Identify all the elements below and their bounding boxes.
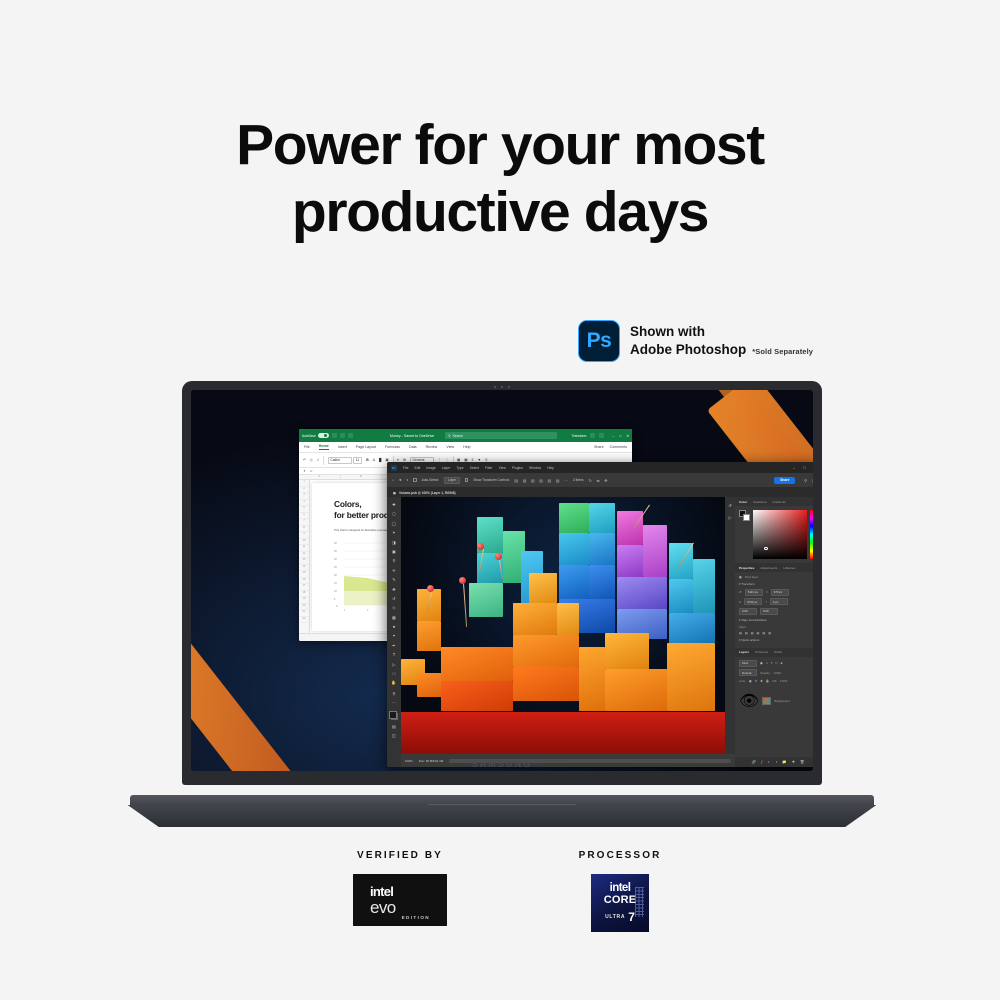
verified-by-caption: VERIFIED BY bbox=[290, 850, 510, 861]
lock-label: Lock: bbox=[739, 679, 746, 683]
tab-properties[interactable]: Properties bbox=[739, 566, 754, 570]
history-brush-tool-icon[interactable]: ↺ bbox=[392, 596, 396, 601]
shown-with-line2: Adobe Photoshop bbox=[630, 341, 746, 359]
filter-type-icon[interactable]: T bbox=[771, 661, 773, 665]
svg-text:15: 15 bbox=[334, 582, 337, 585]
svg-text:0: 0 bbox=[336, 605, 338, 608]
share-button[interactable]: Share bbox=[594, 445, 604, 449]
pixel-layer-icon: ▣ bbox=[739, 575, 742, 579]
headline-line-1: Power for your most bbox=[0, 112, 1000, 179]
gradient-tool-icon[interactable]: ▦ bbox=[392, 615, 396, 620]
history-panel-icon[interactable]: ↺ bbox=[728, 503, 731, 508]
height-label: H bbox=[739, 600, 741, 604]
auto-select-label: Auto-Select: bbox=[422, 478, 439, 482]
excel-title-bar: AutoSave Money - Saved to OneDrive ⚲ Sea… bbox=[299, 429, 632, 442]
processor-caption: PROCESSOR bbox=[510, 850, 730, 861]
ribbon-tab-view[interactable]: View bbox=[446, 445, 454, 449]
ribbon-tab-help[interactable]: Help bbox=[463, 445, 470, 449]
align-icons-group[interactable]: ▤ ▤ ▤ ▤ ▤ ▤ ⋯ bbox=[514, 478, 568, 483]
layer-list-item[interactable]: 👁 Background bbox=[735, 688, 813, 714]
hue-slider[interactable] bbox=[810, 510, 813, 559]
path-selection-tool-icon[interactable]: ▷ bbox=[392, 662, 395, 667]
excel-document-title[interactable]: Money - Saved to OneDrive bbox=[390, 434, 434, 438]
tab-thumbnail-icon: ▣ bbox=[393, 491, 396, 495]
menu-layer[interactable]: Layer bbox=[442, 466, 450, 470]
maximize-button[interactable]: □ bbox=[803, 465, 805, 470]
properties-panel-body[interactable]: ▣ Pixel layer ▾ Transform W 5113 px X 37… bbox=[735, 572, 813, 648]
align-middle-icon[interactable]: ▤ bbox=[547, 478, 551, 483]
crop-tool-icon[interactable]: ◨ bbox=[392, 540, 396, 545]
foreground-background-color-swatch[interactable] bbox=[391, 713, 398, 720]
font-name-select[interactable]: Calibri bbox=[328, 457, 352, 464]
photoshop-app-icon: Ps bbox=[391, 465, 397, 471]
excel-titlebar-right: Transform – □ ✕ bbox=[571, 433, 629, 438]
quick-mask-icon[interactable]: ▤ bbox=[392, 724, 396, 729]
tab-adjustments[interactable]: Adjustments bbox=[760, 566, 777, 570]
lock-row[interactable]: Lock: ▣ ✎ ✚ 🔒 Fill: 100% bbox=[739, 679, 813, 683]
svg-text:20: 20 bbox=[334, 574, 337, 577]
photoshop-workspace: ✚ ◻ ◯ ✦ ◨ ▣ ⚲ ✢ ✎ ☘ ↺ ◇ ▦ ● ⚭ bbox=[387, 497, 813, 767]
intel-evo-wordmark: intel evo bbox=[370, 885, 396, 916]
color-panel-tabs[interactable]: Color Swatches Gradients ⋯ bbox=[735, 497, 813, 506]
save-icon[interactable] bbox=[332, 433, 337, 438]
intel-wordmark: intel bbox=[370, 885, 396, 898]
ribbon-tab-home[interactable]: Home bbox=[319, 444, 329, 450]
opacity-label: Opacity: bbox=[760, 671, 771, 675]
transform-row-2[interactable]: H 3742 px Y 0 px bbox=[739, 598, 813, 605]
excel-search-input[interactable]: ⚲ Search bbox=[445, 432, 557, 439]
actions-panel-icon[interactable]: ▷ bbox=[728, 515, 731, 520]
align-center-h-icon[interactable]: ▤ bbox=[745, 631, 748, 635]
evo-wordmark: evo bbox=[370, 899, 396, 916]
filter-pixel-icon[interactable]: ▣ bbox=[760, 661, 763, 665]
shown-with-line1: Shown with bbox=[630, 323, 813, 341]
filter-adjust-icon[interactable]: ◑ bbox=[766, 661, 768, 665]
svg-text:30: 30 bbox=[334, 558, 337, 561]
menu-edit[interactable]: Edit bbox=[414, 466, 420, 470]
font-name-group[interactable]: Calibri 11 bbox=[328, 457, 363, 464]
col-header[interactable]: B bbox=[341, 475, 383, 479]
pin-head bbox=[459, 577, 466, 584]
show-transform-checkbox[interactable] bbox=[465, 478, 468, 481]
eyedropper-tool-icon[interactable]: ⚲ bbox=[392, 558, 395, 563]
workspace-icon[interactable]: ▣ bbox=[812, 478, 813, 483]
type-tool-icon[interactable]: T bbox=[393, 652, 396, 657]
blend-mode-row[interactable]: Normal Opacity: 100% bbox=[739, 669, 813, 676]
width-input[interactable]: 5113 px bbox=[745, 589, 763, 596]
align-top-icon[interactable]: ▤ bbox=[539, 478, 543, 483]
ultra-label: ULTRA bbox=[605, 914, 625, 920]
fill-value[interactable]: 100% bbox=[780, 679, 787, 683]
headline-line-2: productive days bbox=[0, 179, 1000, 246]
skew-input[interactable]: 0.00 bbox=[760, 608, 778, 615]
layer-filter-select[interactable]: Kind bbox=[739, 660, 757, 667]
properties-panel-tabs[interactable]: Properties Adjustments Libraries ⋯ bbox=[735, 563, 813, 572]
svg-text:5: 5 bbox=[334, 598, 336, 601]
align-top-icon[interactable]: ▤ bbox=[757, 631, 760, 635]
laptop-base bbox=[112, 785, 892, 831]
object-select-tool-icon[interactable]: ✦ bbox=[392, 530, 396, 535]
menu-file[interactable]: File bbox=[403, 466, 408, 470]
document-heading: Colors, for better produ bbox=[334, 499, 394, 520]
comments-button[interactable]: Comments bbox=[610, 445, 627, 449]
lock-position-icon[interactable]: ✚ bbox=[760, 679, 763, 683]
ribbon-tab-file[interactable]: File bbox=[304, 445, 310, 449]
layer-filter-row[interactable]: Kind ▣ ◑ T □ ◈ bbox=[739, 660, 813, 667]
search-icon[interactable]: ⚲ bbox=[804, 478, 807, 483]
page-title: Power for your most productive days bbox=[0, 112, 1000, 247]
rotate-icon[interactable]: ↻ bbox=[588, 478, 591, 483]
name-box[interactable]: ▼ bbox=[303, 469, 306, 473]
pin-head bbox=[427, 585, 434, 592]
lock-transparent-icon[interactable]: ▣ bbox=[749, 679, 752, 683]
laptop-screen: AutoSave Money - Saved to OneDrive ⚲ Sea… bbox=[191, 390, 813, 771]
paste-icon[interactable]: ⎙ bbox=[310, 458, 313, 462]
layer-kind-row: ▣ Pixel layer bbox=[739, 575, 813, 579]
samsung-brand-logo: SAMSUNG bbox=[191, 759, 813, 769]
intel-evo-badge: VERIFIED BY intel evo EDITION bbox=[290, 850, 510, 926]
pen-tool-icon[interactable]: ✒ bbox=[392, 643, 396, 648]
background-color[interactable] bbox=[743, 514, 750, 521]
zoom-tool-icon[interactable]: ⚲ bbox=[392, 691, 395, 696]
artwork-3d-blocks bbox=[401, 497, 735, 754]
align-bottom-icon[interactable]: ▤ bbox=[556, 478, 560, 483]
dodge-tool-icon[interactable]: ⚭ bbox=[392, 633, 396, 638]
distribute-icon[interactable]: ⋯ bbox=[564, 478, 568, 483]
layers-panel-body[interactable]: Kind ▣ ◑ T □ ◈ Normal Opacity: 100% bbox=[735, 657, 813, 689]
search-icon: ⚲ bbox=[448, 434, 450, 438]
menu-filter[interactable]: Filter bbox=[485, 466, 493, 470]
font-size-select[interactable]: 11 bbox=[353, 457, 362, 464]
minimize-button[interactable]: – bbox=[793, 465, 795, 470]
healing-brush-tool-icon[interactable]: ✢ bbox=[392, 568, 396, 573]
share-button[interactable]: Share bbox=[774, 477, 795, 484]
undo-group[interactable]: ↶ bbox=[303, 458, 306, 462]
laptop-lid: AutoSave Money - Saved to OneDrive ⚲ Sea… bbox=[182, 381, 822, 785]
filter-shape-icon[interactable]: □ bbox=[776, 661, 778, 665]
blend-mode-select[interactable]: Normal bbox=[739, 669, 757, 676]
tab-gradients[interactable]: Gradients bbox=[773, 500, 786, 504]
angle-input[interactable]: 0.00 bbox=[739, 608, 757, 615]
tab-swatches[interactable]: Swatches bbox=[753, 500, 766, 504]
transform-icons-group[interactable]: ↻ ⇆ ✥ bbox=[588, 478, 607, 483]
tool-preset-chevron-down-icon[interactable]: ▾ bbox=[407, 478, 409, 482]
pin-stem bbox=[463, 583, 467, 627]
align-label: Align: bbox=[739, 625, 746, 629]
filter-smart-icon[interactable]: ◈ bbox=[780, 661, 782, 665]
align-section-title[interactable]: ▾ Align and distribute bbox=[739, 618, 813, 622]
ribbon-display-options-icon[interactable] bbox=[599, 433, 604, 438]
avatar[interactable] bbox=[590, 433, 595, 438]
search-placeholder: Search bbox=[453, 434, 463, 438]
align-buttons-row[interactable]: ▤ ▤ ▤ ▤ ▤ ▤ bbox=[739, 631, 813, 635]
layer-thumbnail bbox=[762, 697, 771, 705]
lasso-tool-icon[interactable]: ◯ bbox=[392, 521, 397, 526]
photoshop-document-tab[interactable]: ▣ Volume.psb @ 100% (Layer 1, RGB/8) bbox=[387, 488, 813, 497]
autosave-label: AutoSave bbox=[302, 434, 316, 438]
x-input[interactable]: 379 px bbox=[771, 589, 789, 596]
core-badge-dot-pattern bbox=[635, 887, 644, 917]
ribbon-tab-insert[interactable]: Insert bbox=[338, 445, 347, 449]
laptop-base-body bbox=[112, 805, 892, 827]
font-color-icon[interactable]: A bbox=[373, 458, 375, 462]
auto-select-value[interactable]: Layer bbox=[444, 477, 460, 484]
photoshop-options-bar[interactable]: ⌂ ✚ ▾ Auto-Select: Layer Show Transform … bbox=[387, 473, 813, 488]
color-field[interactable] bbox=[753, 510, 807, 559]
x-label: X bbox=[766, 590, 768, 594]
doc-title-line2: for better produ bbox=[334, 510, 394, 520]
row-headers[interactable]: 1 2 3 4 5 6 7 8 9 10 11 12 13 14 bbox=[299, 480, 310, 641]
menu-image[interactable]: Image bbox=[426, 466, 435, 470]
opacity-value[interactable]: 100% bbox=[774, 671, 781, 675]
formula-input[interactable]: fx bbox=[310, 469, 312, 473]
menu-view[interactable]: View bbox=[499, 466, 506, 470]
photoshop-icon: Ps bbox=[578, 320, 620, 362]
layer-name[interactable]: Background bbox=[774, 699, 789, 703]
blur-tool-icon[interactable]: ● bbox=[393, 624, 396, 629]
lock-all-icon[interactable]: 🔒 bbox=[766, 679, 770, 683]
tab-paths[interactable]: Paths bbox=[774, 650, 782, 654]
lock-image-icon[interactable]: ✎ bbox=[755, 679, 758, 683]
webcam-icon bbox=[480, 385, 524, 389]
minimize-button[interactable]: – bbox=[612, 434, 614, 438]
row-header[interactable]: 22 bbox=[299, 617, 309, 624]
pin-head bbox=[477, 543, 484, 550]
photoshop-collapsed-panel-rail[interactable]: ↺ ▷ bbox=[725, 497, 735, 754]
edition-label: EDITION bbox=[402, 915, 430, 926]
align-bottom-icon[interactable]: ▤ bbox=[768, 631, 771, 635]
tab-channels[interactable]: Channels bbox=[755, 650, 768, 654]
ribbon-tab-data[interactable]: Data bbox=[409, 445, 417, 449]
hand-tool-icon[interactable]: ✋ bbox=[391, 680, 396, 686]
align-center-h-icon[interactable]: ▤ bbox=[523, 478, 527, 483]
svg-text:25: 25 bbox=[334, 566, 337, 569]
align-middle-icon[interactable]: ▤ bbox=[762, 631, 765, 635]
clone-stamp-tool-icon[interactable]: ☘ bbox=[392, 587, 396, 592]
fill-label: Fill: bbox=[773, 679, 778, 683]
transform-section-title[interactable]: ▾ Transform bbox=[739, 582, 813, 586]
shown-with-text: Shown with Adobe Photoshop *Sold Separat… bbox=[630, 323, 813, 358]
svg-text:1: 1 bbox=[344, 609, 346, 612]
format-painter-icon[interactable]: ✓ bbox=[317, 458, 320, 462]
eraser-tool-icon[interactable]: ◇ bbox=[392, 605, 395, 610]
document-tab-label[interactable]: Volume.psb @ 100% (Layer 1, RGB/8) bbox=[399, 491, 456, 495]
sold-separately-note: *Sold Separately bbox=[752, 347, 813, 358]
screen-mode-icon[interactable]: ◫ bbox=[392, 733, 396, 738]
laptop-product-image: AutoSave Money - Saved to OneDrive ⚲ Sea… bbox=[112, 381, 892, 831]
frame-tool-icon[interactable]: ▣ bbox=[392, 549, 396, 554]
ultra-tier-row: ULTRA 7 bbox=[605, 911, 635, 923]
redo-icon[interactable] bbox=[348, 433, 353, 438]
align-left-icon[interactable]: ▤ bbox=[514, 478, 518, 483]
photoshop-window-controls[interactable]: – □ ✕ bbox=[793, 465, 813, 470]
excel-ribbon-tabs[interactable]: File Home Insert Page Layout Formulas Da… bbox=[299, 442, 632, 453]
autosave-switch[interactable] bbox=[318, 433, 329, 438]
pin-head bbox=[495, 553, 502, 560]
intel-evo-logo: intel evo EDITION bbox=[353, 874, 447, 926]
photoshop-toolbar[interactable]: ✚ ◻ ◯ ✦ ◨ ▣ ⚲ ✢ ✎ ☘ ↺ ◇ ▦ ● ⚭ bbox=[387, 497, 401, 767]
intel-wordmark: intel bbox=[610, 883, 631, 895]
ribbon-tab-page-layout[interactable]: Page Layout bbox=[356, 445, 376, 449]
layers-panel-tabs[interactable]: Layers Channels Paths ⋯ bbox=[735, 648, 813, 657]
items-count-label: 3 Items bbox=[573, 478, 583, 482]
fill-color-icon[interactable]: █ bbox=[379, 458, 381, 462]
format-painter-group[interactable]: ✓ bbox=[317, 458, 320, 462]
move-tool-icon[interactable]: ✚ bbox=[399, 478, 402, 482]
paste-group[interactable]: ⎙ bbox=[310, 458, 313, 462]
show-transform-label: Show Transform Controls bbox=[473, 478, 509, 482]
marquee-tool-icon[interactable]: ◻ bbox=[392, 511, 395, 516]
menu-select[interactable]: Select bbox=[470, 466, 479, 470]
menu-window[interactable]: Window bbox=[529, 466, 541, 470]
align-right-icon[interactable]: ▤ bbox=[751, 631, 754, 635]
intel-core-badge: PROCESSOR intel CORE ULTRA 7 bbox=[510, 850, 730, 932]
height-input[interactable]: 3742 px bbox=[744, 598, 762, 605]
width-label: W bbox=[739, 590, 742, 594]
svg-text:10: 10 bbox=[334, 590, 337, 593]
tab-libraries[interactable]: Libraries bbox=[783, 566, 795, 570]
undo-icon[interactable] bbox=[340, 433, 345, 438]
align-left-icon[interactable]: ▤ bbox=[739, 631, 742, 635]
ribbon-tab-formulas[interactable]: Formulas bbox=[385, 445, 400, 449]
tab-color[interactable]: Color bbox=[739, 500, 747, 504]
transform-row-3[interactable]: 0.00 0.00 bbox=[739, 608, 813, 615]
shown-with-photoshop-badge: Ps Shown with Adobe Photoshop *Sold Sepa… bbox=[578, 320, 813, 362]
menu-help[interactable]: Help bbox=[547, 466, 554, 470]
tier-number: 7 bbox=[628, 911, 635, 923]
bold-button[interactable]: B bbox=[366, 458, 368, 462]
excel-window-controls[interactable]: – □ ✕ bbox=[612, 434, 629, 438]
transform-row-1[interactable]: W 5113 px X 379 px bbox=[739, 589, 813, 596]
maximize-button[interactable]: □ bbox=[619, 434, 621, 438]
autosave-toggle[interactable]: AutoSave bbox=[302, 433, 329, 438]
menu-type[interactable]: Type bbox=[456, 466, 463, 470]
rectangle-tool-icon[interactable]: □ bbox=[393, 671, 396, 676]
quick-actions-section-title[interactable]: ▾ Quick actions bbox=[739, 638, 813, 642]
core-wordmark: CORE bbox=[604, 895, 637, 906]
tab-layers[interactable]: Layers bbox=[739, 650, 749, 654]
color-cursor[interactable] bbox=[764, 547, 768, 551]
photoshop-canvas[interactable] bbox=[401, 497, 735, 754]
y-label: Y bbox=[765, 600, 767, 604]
align-row[interactable]: Align: bbox=[739, 625, 813, 629]
align-right-icon[interactable]: ▤ bbox=[531, 478, 535, 483]
home-icon[interactable]: ⌂ bbox=[392, 478, 394, 482]
photoshop-window[interactable]: Ps File Edit Image Layer Type Select Fil… bbox=[387, 462, 813, 767]
intel-core-ultra-logo: intel CORE ULTRA 7 bbox=[591, 874, 649, 932]
svg-text:40: 40 bbox=[334, 542, 337, 545]
pixel-layer-label: Pixel layer bbox=[745, 575, 758, 579]
auto-select-checkbox[interactable] bbox=[413, 478, 416, 481]
options-right-icons[interactable]: ⚲ ▣ bbox=[804, 478, 813, 483]
undo-icon[interactable]: ↶ bbox=[303, 458, 306, 462]
y-input[interactable]: 0 px bbox=[770, 598, 788, 605]
photoshop-menu-bar[interactable]: Ps File Edit Image Layer Type Select Fil… bbox=[387, 462, 813, 473]
col-header[interactable]: A bbox=[299, 475, 341, 479]
move-tool-icon[interactable]: ✚ bbox=[392, 502, 396, 507]
svg-text:35: 35 bbox=[334, 550, 337, 553]
svg-text:2: 2 bbox=[367, 609, 369, 612]
ribbon-tab-review[interactable]: Review bbox=[426, 445, 438, 449]
user-name[interactable]: Transform bbox=[571, 434, 586, 438]
menu-plugins[interactable]: Plugins bbox=[512, 466, 523, 470]
color-swatches[interactable] bbox=[739, 510, 750, 522]
brush-tool-icon[interactable]: ✎ bbox=[392, 577, 396, 582]
artwork-floor bbox=[401, 712, 735, 754]
layer-visibility-icon[interactable]: 👁 bbox=[739, 691, 759, 711]
photoshop-panel-column[interactable]: Color Swatches Gradients ⋯ bbox=[735, 497, 813, 767]
more-tools-icon[interactable]: ⋯ bbox=[392, 700, 396, 705]
close-button[interactable]: ✕ bbox=[626, 434, 629, 438]
three-d-icon[interactable]: ✥ bbox=[604, 478, 607, 483]
flip-icon[interactable]: ⇆ bbox=[596, 478, 599, 483]
doc-title-line1: Colors, bbox=[334, 499, 361, 509]
color-picker[interactable] bbox=[735, 506, 813, 563]
